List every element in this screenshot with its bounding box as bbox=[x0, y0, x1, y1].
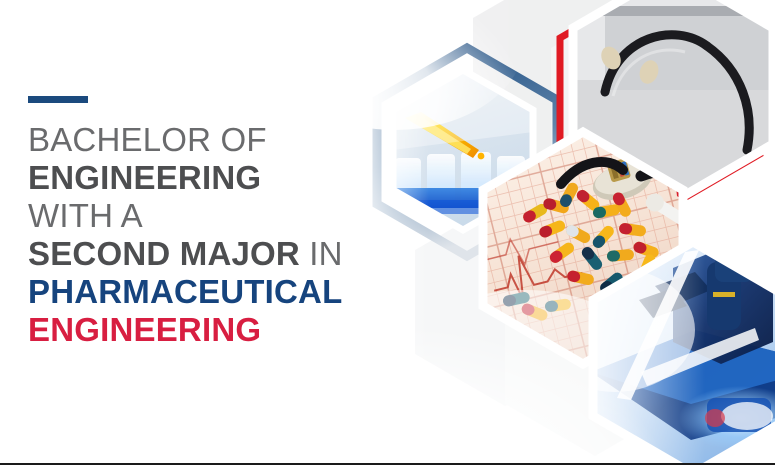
headline-block: BACHELOR OF ENGINEERING WITH A SECOND MA… bbox=[28, 96, 388, 349]
headline-line-1: BACHELOR OF bbox=[28, 121, 388, 159]
headline-line-2: ENGINEERING bbox=[28, 159, 388, 197]
headline-line-4: SECOND MAJOR IN bbox=[28, 235, 388, 273]
accent-bar bbox=[28, 96, 88, 103]
headline-line-4-bold: SECOND MAJOR bbox=[28, 235, 300, 272]
page-title: BACHELOR OF ENGINEERING WITH A SECOND MA… bbox=[28, 121, 388, 349]
headline-line-5: PHARMACEUTICAL bbox=[28, 273, 388, 311]
headline-line-3: WITH A bbox=[28, 197, 388, 235]
headline-line-4-light: IN bbox=[300, 235, 343, 272]
headline-line-6: ENGINEERING bbox=[28, 311, 388, 349]
hexagon-photo-collage bbox=[355, 0, 775, 465]
promo-banner: BACHELOR OF ENGINEERING WITH A SECOND MA… bbox=[0, 0, 775, 465]
